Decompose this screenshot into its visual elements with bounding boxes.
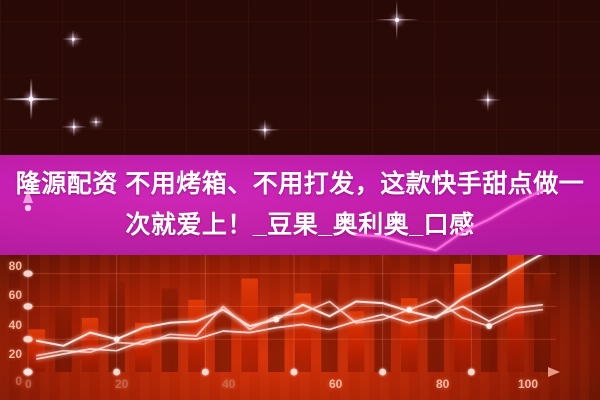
data-point-marker (486, 323, 492, 329)
bar (82, 318, 99, 372)
x-tick-label-20: 20 (115, 377, 128, 391)
bar (321, 270, 338, 372)
screenshot-canvas: 隆源配资 不用烤箱、不用打发，这款快手甜点做一 次就爱上！_豆果_奥利奥_口感 … (0, 0, 600, 400)
y-tick-label-60: 60 (0, 288, 22, 302)
data-point-marker (274, 317, 280, 323)
y-tick-label-40: 40 (0, 318, 22, 332)
bar (29, 329, 45, 372)
y-tick-dot (23, 336, 32, 342)
y-tick-dot (23, 270, 32, 276)
x-tick-label-80: 80 (436, 377, 449, 391)
bar (215, 313, 232, 372)
bar (534, 274, 551, 372)
title-line-2: 次就爱上！_豆果_奥利奥_口感 (9, 205, 591, 246)
x-tick-dot (113, 369, 120, 376)
x-tick-label-0: 0 (25, 377, 32, 391)
bar (162, 288, 179, 372)
x-tick-dot (379, 369, 386, 376)
y-tick-label-20: 20 (0, 347, 22, 361)
x-tick-dot (202, 369, 209, 376)
y-tick-label-0: 0 (6, 374, 22, 388)
data-point-marker (407, 307, 413, 313)
y-tick-dot (23, 369, 32, 375)
x-tick-dot (468, 369, 475, 376)
y-tick-dot (23, 303, 32, 309)
x-tick-label-40: 40 (222, 377, 235, 391)
x-tick-dot (291, 369, 298, 376)
page-title: 隆源配资 不用烤箱、不用打发，这款快手甜点做一 次就爱上！_豆果_奥利奥_口感 (9, 164, 591, 246)
y-tick-label-80: 80 (0, 259, 22, 273)
x-tick-label-60: 60 (329, 377, 342, 391)
x-tick-label-100: 100 (518, 377, 538, 391)
bar (428, 277, 445, 372)
title-line-1: 隆源配资 不用烤箱、不用打发，这款快手甜点做一 (9, 164, 591, 205)
title-banner: 隆源配资 不用烤箱、不用打发，这款快手甜点做一 次就爱上！_豆果_奥利奥_口感 (0, 155, 600, 255)
bar (481, 287, 498, 372)
bar (55, 305, 71, 372)
